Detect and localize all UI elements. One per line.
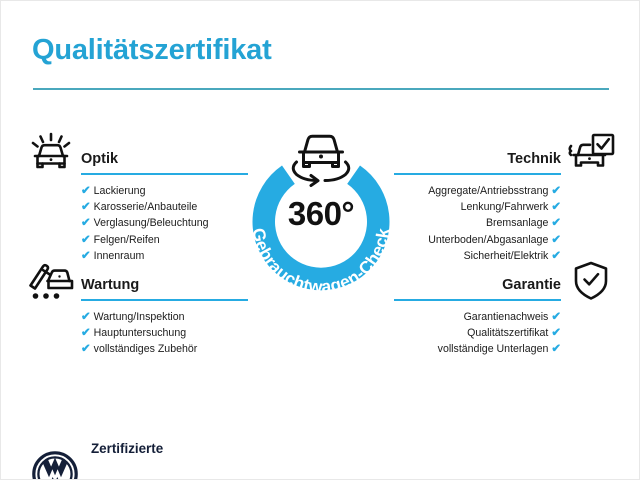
check-icon: ✔: [551, 327, 561, 339]
header-divider: [33, 88, 609, 90]
check-icon: ✔: [551, 250, 561, 262]
section-wartung-header: Wartung: [81, 269, 248, 295]
section-garantie-list: Garantienachweis✔ Qualitätszertifikat✔ v…: [394, 309, 561, 358]
list-item-label: Verglasung/Beleuchtung: [94, 217, 209, 229]
list-item: Qualitätszertifikat✔: [394, 325, 561, 341]
list-item: vollständige Unterlagen✔: [394, 341, 561, 357]
list-item: ✔Lackierung: [81, 183, 248, 199]
shield-check-icon: [572, 260, 610, 307]
section-optik-title: Optik: [81, 151, 118, 167]
section-optik-divider: [81, 173, 248, 175]
list-item-label: Bremsanlage: [486, 217, 548, 229]
check-icon: ✔: [551, 311, 561, 323]
list-item-label: Felgen/Reifen: [94, 234, 160, 246]
check-icon: ✔: [81, 185, 91, 197]
list-item: Aggregate/Antriebsstrang✔: [394, 183, 561, 199]
car-checkbox-icon: [568, 132, 616, 179]
footer-brand-logo: Zertifizierte Gebrauchtwagen: [32, 406, 200, 480]
section-garantie-title: Garantie: [502, 277, 561, 293]
list-item-label: Karosserie/Anbauteile: [94, 201, 198, 213]
list-item: Sicherheit/Elektrik✔: [394, 248, 561, 264]
check-icon: ✔: [551, 201, 561, 213]
list-item-label: Unterboden/Abgasanlage: [428, 234, 548, 246]
list-item: ✔Karosserie/Anbauteile: [81, 199, 248, 215]
list-item: Lenkung/Fahrwerk✔: [394, 199, 561, 215]
list-item: ✔vollständiges Zubehör: [81, 341, 248, 357]
list-item-label: vollständiges Zubehör: [94, 343, 198, 355]
list-item: ✔Felgen/Reifen: [81, 232, 248, 248]
list-item: ✔Verglasung/Beleuchtung: [81, 215, 248, 231]
volkswagen-logo-icon: [32, 451, 78, 480]
list-item-label: vollständige Unterlagen: [438, 343, 549, 355]
section-optik: Optik ✔Lackierung ✔Karosserie/Anbauteile…: [81, 143, 248, 169]
badge-degrees-label: 360°: [233, 195, 409, 233]
section-optik-list: ✔Lackierung ✔Karosserie/Anbauteile ✔Verg…: [81, 183, 248, 264]
check-icon: ✔: [81, 201, 91, 213]
section-optik-header: Optik: [81, 143, 248, 169]
check-icon: ✔: [81, 327, 91, 339]
section-technik: Technik Aggregate/Antriebsstrang✔ Lenkun…: [394, 143, 561, 169]
check-icon: ✔: [551, 343, 561, 355]
list-item-label: Lackierung: [94, 185, 146, 197]
page-title: Qualitätszertifikat: [32, 34, 272, 67]
section-wartung-list: ✔Wartung/Inspektion ✔Hauptuntersuchung ✔…: [81, 309, 248, 358]
check-icon: ✔: [81, 234, 91, 246]
list-item-label: Qualitätszertifikat: [467, 327, 548, 339]
certificate-page: Qualitätszertifikat Optik ✔Lackierung ✔K…: [0, 0, 640, 480]
check-icon: ✔: [551, 217, 561, 229]
list-item: ✔Innenraum: [81, 248, 248, 264]
section-technik-list: Aggregate/Antriebsstrang✔ Lenkung/Fahrwe…: [394, 183, 561, 264]
list-item-label: Aggregate/Antriebsstrang: [428, 185, 548, 197]
section-garantie: Garantie Garantienachweis✔ Qualitätszert…: [394, 269, 561, 295]
check-icon: ✔: [81, 250, 91, 262]
section-garantie-divider: [394, 299, 561, 301]
list-item: Unterboden/Abgasanlage✔: [394, 232, 561, 248]
check-icon: ✔: [81, 343, 91, 355]
list-item: ✔Wartung/Inspektion: [81, 309, 248, 325]
footer-brand-text: Zertifizierte Gebrauchtwagen: [91, 406, 200, 480]
list-item: Garantienachweis✔: [394, 309, 561, 325]
list-item-label: Lenkung/Fahrwerk: [461, 201, 549, 213]
list-item-label: Innenraum: [94, 250, 145, 262]
check-icon: ✔: [81, 311, 91, 323]
list-item: ✔Hauptuntersuchung: [81, 325, 248, 341]
check-icon: ✔: [551, 185, 561, 197]
list-item: Bremsanlage✔: [394, 215, 561, 231]
section-technik-header: Technik: [394, 143, 561, 169]
section-wartung-divider: [81, 299, 248, 301]
footer-line-1: Zertifizierte: [91, 440, 200, 457]
car-shine-icon: [28, 132, 74, 179]
section-technik-divider: [394, 173, 561, 175]
check-icon: ✔: [551, 234, 561, 246]
section-wartung-title: Wartung: [81, 277, 139, 293]
check-icon: ✔: [81, 217, 91, 229]
car-service-pen-icon: [26, 260, 76, 307]
badge-360-gebrauchtwagen-check: Gebrauchtwagen-Check 360°: [233, 123, 409, 309]
section-wartung: Wartung ✔Wartung/Inspektion ✔Hauptunters…: [81, 269, 248, 295]
list-item-label: Wartung/Inspektion: [94, 311, 185, 323]
car-rotate-360-icon: [293, 136, 349, 185]
list-item-label: Hauptuntersuchung: [94, 327, 186, 339]
section-garantie-header: Garantie: [394, 269, 561, 295]
list-item-label: Garantienachweis: [464, 311, 549, 323]
section-technik-title: Technik: [507, 151, 561, 167]
list-item-label: Sicherheit/Elektrik: [464, 250, 549, 262]
